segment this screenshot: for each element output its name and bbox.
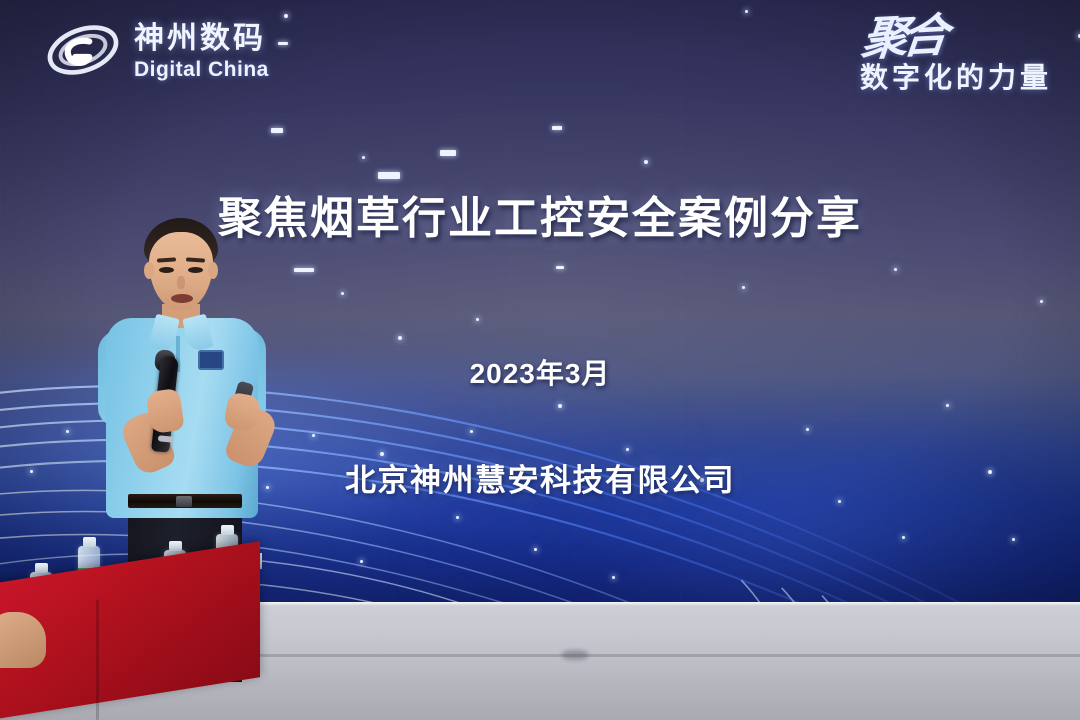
presenter-ear-left (144, 262, 154, 279)
event-brand-mark: 聚合 数字化的力量 (860, 16, 1052, 96)
presenter-eye-left (159, 267, 174, 273)
bottle-cap (221, 525, 234, 535)
brand-name-cn: 神州数码 (134, 24, 269, 54)
bottle-cap (169, 541, 182, 551)
digital-china-swirl-icon (44, 18, 122, 82)
presenter-belt-buckle (176, 496, 192, 507)
bottle-cap (83, 537, 96, 547)
presenter-eye-right (188, 267, 203, 273)
conference-photo: 神州数码 Digital China 聚合 数字化的力量 聚焦烟草行业工控安全案… (0, 0, 1080, 720)
bottle-cap (35, 563, 48, 573)
presenter-chest-logo (198, 350, 224, 370)
event-calligraphy: 聚合 (857, 14, 944, 62)
presenter-ear-right (208, 262, 218, 279)
digital-china-logo: 神州数码 Digital China (44, 18, 269, 82)
presenter-mouth (171, 294, 193, 303)
brand-name-en: Digital China (134, 59, 269, 80)
presenter-hand-left (145, 388, 185, 434)
presenter-nose (177, 276, 185, 289)
table-cloth-fold (96, 600, 99, 720)
stage-floor-scuff (562, 650, 588, 660)
